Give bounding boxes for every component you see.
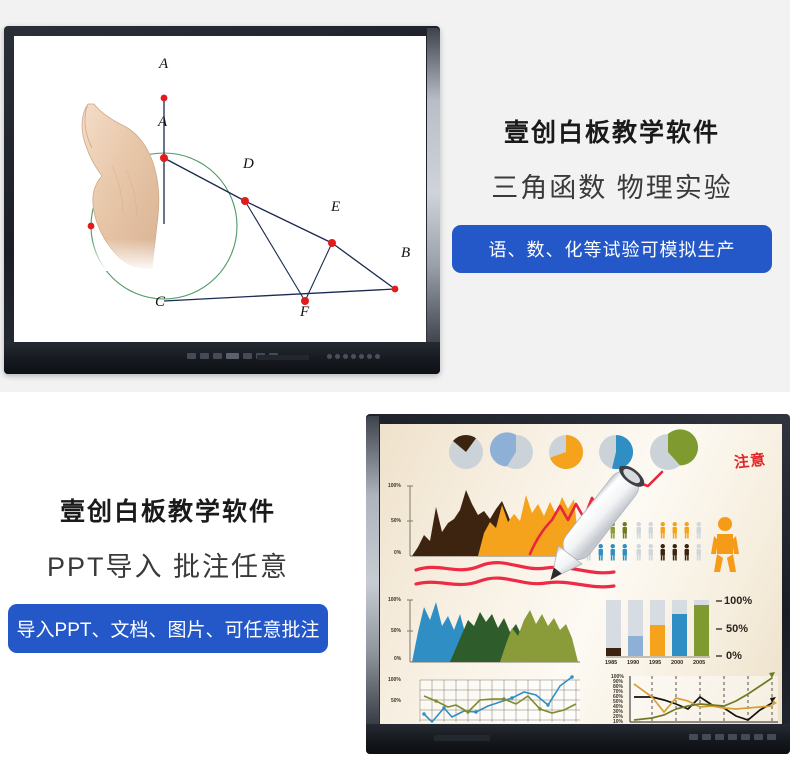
- monitor-bezel-right-edge: [427, 28, 440, 358]
- bottom-heading: 壹创白板教学软件: [8, 497, 328, 527]
- geometry-diagram: A A D E B F C: [14, 36, 426, 342]
- monitor-speaker-grille: [327, 354, 380, 359]
- point-label-e: E: [331, 199, 340, 216]
- top-whiteboard-monitor: A A D E B F C: [4, 26, 440, 374]
- top-feature-button[interactable]: 语、数、化等试验可模拟生产: [452, 225, 772, 273]
- top-subheading: 三角函数 物理实验: [452, 166, 772, 205]
- point-label-d: D: [243, 156, 254, 173]
- monitor-bezel-left-edge: [366, 416, 379, 736]
- top-text-block: 壹创白板教学软件 三角函数 物理实验 语、数、化等试验可模拟生产: [452, 118, 772, 273]
- stylus-pen[interactable]: [530, 466, 650, 596]
- monitor-brand-logo: [434, 735, 490, 741]
- point-label-a-top: A: [159, 56, 168, 73]
- bottom-whiteboard-monitor: 100% 50% 0% 100% 50% 0% 100% 50% 1985 19…: [366, 414, 790, 754]
- top-panel: A A D E B F C 壹创白板教学软件: [0, 0, 790, 392]
- point-label-c: C: [155, 294, 165, 311]
- dashboard-screen[interactable]: 100% 50% 0% 100% 50% 0% 100% 50% 1985 19…: [380, 424, 782, 724]
- monitor-bottom-bezel: [366, 724, 790, 754]
- monitor-control-buttons[interactable]: [689, 734, 776, 740]
- annotation-label: 注意: [733, 448, 767, 472]
- monitor-bottom-bezel: [4, 342, 440, 374]
- bottom-feature-button[interactable]: 导入PPT、文档、图片、可任意批注: [8, 604, 328, 653]
- point-label-f: F: [300, 304, 309, 321]
- monitor-brand-logo: [257, 355, 309, 360]
- bottom-subheading: PPT导入 批注任意: [8, 545, 328, 584]
- bottom-panel: 壹创白板教学软件 PPT导入 批注任意 导入PPT、文档、图片、可任意批注: [0, 402, 790, 762]
- dashboard-charts: 100% 50% 0% 100% 50% 0% 100% 50% 1985 19…: [380, 424, 782, 724]
- bottom-text-block: 壹创白板教学软件 PPT导入 批注任意 导入PPT、文档、图片、可任意批注: [8, 497, 328, 653]
- product-banner: A A D E B F C 壹创白板教学软件: [0, 0, 790, 774]
- top-heading: 壹创白板教学软件: [452, 118, 772, 148]
- whiteboard-screen[interactable]: A A D E B F C: [14, 36, 426, 342]
- panel-divider: [0, 392, 790, 402]
- point-label-a-circle: A: [158, 114, 167, 131]
- point-label-b: B: [401, 245, 410, 262]
